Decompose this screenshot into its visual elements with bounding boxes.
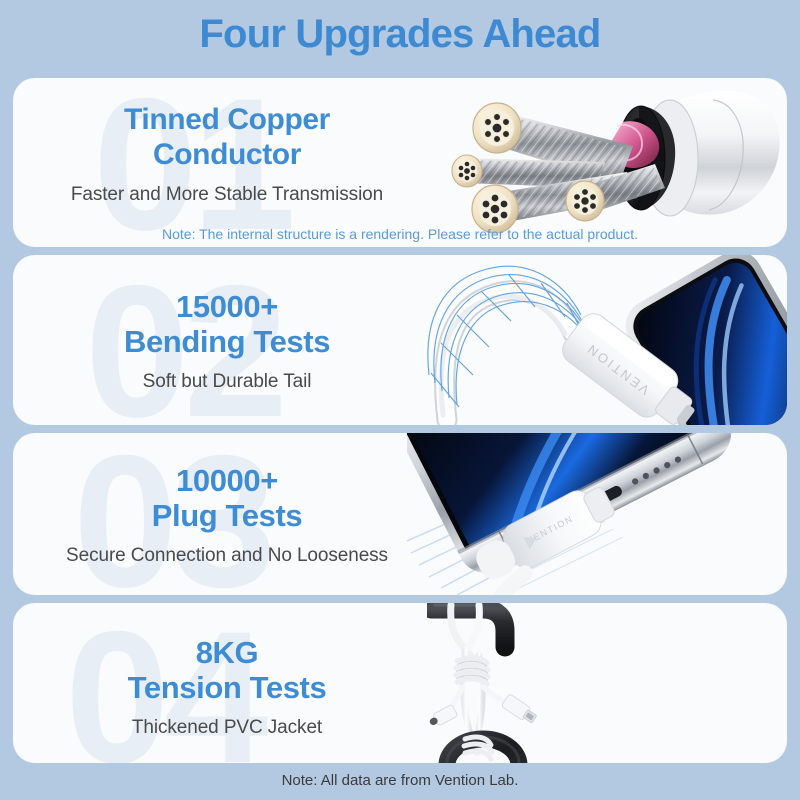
card-4-subtitle: Thickened PVC Jacket <box>13 716 441 740</box>
card-1-headline-line2: Conductor <box>153 138 301 171</box>
card-2-headline-line2: Bending Tests <box>124 324 330 359</box>
cable-cross-section-image <box>427 78 787 247</box>
card-2-subtitle: Soft but Durable Tail <box>13 370 441 394</box>
upgrade-card-1: 01 <box>13 78 787 247</box>
card-3-headline: 10000+ Plug Tests <box>13 463 441 533</box>
upgrade-card-3: 03 <box>13 433 787 595</box>
infographic-page: Four Upgrades Ahead 01 <box>0 0 800 800</box>
card-3-subtitle: Secure Connection and No Looseness <box>13 544 441 568</box>
card-2-headline-line1: 15000+ <box>176 289 278 324</box>
plug-test-image: VENTION <box>407 433 787 595</box>
card-1-headline: Tinned Copper Conductor <box>13 102 441 172</box>
tension-test-image <box>427 603 787 763</box>
card-1-note: Note: The internal structure is a render… <box>13 225 787 243</box>
card-4-headline-line2: Tension Tests <box>128 670 327 705</box>
page-title: Four Upgrades Ahead <box>0 12 800 56</box>
card-1-headline-line1: Tinned Copper <box>124 103 330 136</box>
card-3-headline-line1: 10000+ <box>176 463 278 498</box>
bending-test-image: VENTION <box>417 255 787 425</box>
card-4-headline: 8KG Tension Tests <box>13 635 441 705</box>
upgrade-card-4: 04 <box>13 603 787 763</box>
footer-note: Note: All data are from Vention Lab. <box>0 772 800 789</box>
card-1-text: Tinned Copper Conductor Faster and More … <box>13 102 441 207</box>
card-3-headline-line2: Plug Tests <box>152 498 302 533</box>
card-2-text: 15000+ Bending Tests Soft but Durable Ta… <box>13 289 441 394</box>
card-2-headline: 15000+ Bending Tests <box>13 289 441 359</box>
card-4-text: 8KG Tension Tests Thickened PVC Jacket <box>13 635 441 740</box>
card-3-text: 10000+ Plug Tests Secure Connection and … <box>13 463 441 568</box>
upgrade-card-2: 02 <box>13 255 787 425</box>
card-1-subtitle: Faster and More Stable Transmission <box>13 183 441 207</box>
card-4-headline-line1: 8KG <box>196 635 259 670</box>
